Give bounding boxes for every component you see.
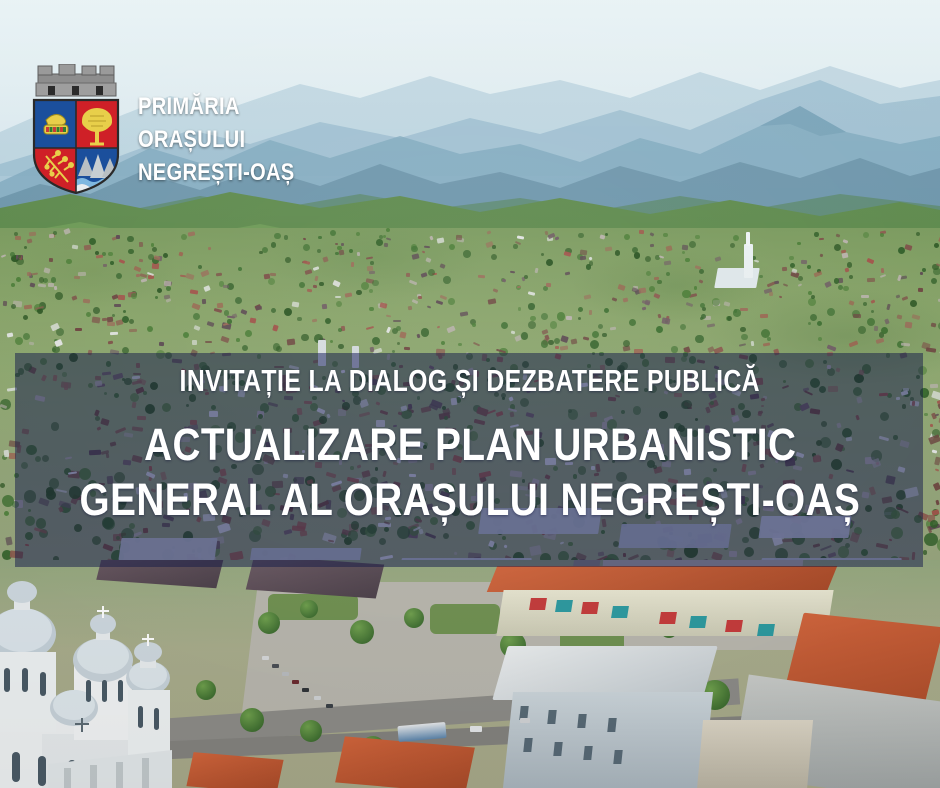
headline-line-2: ACTUALIZARE PLAN URBANISTIC <box>144 422 796 467</box>
headline-line-3: GENERAL AL ORAȘULUI NEGREȘTI-OAȘ <box>80 477 861 522</box>
headline-block: INVITAȚIE LA DIALOG ȘI DEZBATERE PUBLICĂ… <box>0 353 940 567</box>
logo-text-block: PRIMĂRIA ORAȘULUI NEGREȘTI-OAȘ <box>138 73 324 185</box>
logo-line-1: PRIMĂRIA <box>138 95 294 119</box>
headline-line-1: INVITAȚIE LA DIALOG ȘI DEZBATERE PUBLICĂ <box>180 365 760 396</box>
coat-of-arms-icon <box>28 64 124 194</box>
municipality-logo: PRIMĂRIA ORAȘULUI NEGREȘTI-OAȘ <box>28 64 324 194</box>
logo-line-3: NEGREȘTI-OAȘ <box>138 161 294 185</box>
logo-line-2: ORAȘULUI <box>138 128 294 152</box>
orthodox-church-icon <box>0 556 222 788</box>
poster-canvas: INVITAȚIE LA DIALOG ȘI DEZBATERE PUBLICĂ… <box>0 0 940 788</box>
